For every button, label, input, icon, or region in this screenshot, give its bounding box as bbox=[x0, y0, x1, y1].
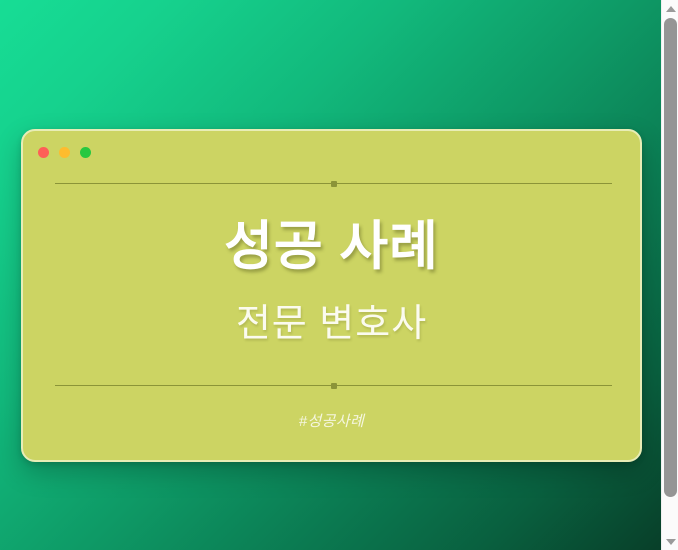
close-dot-icon[interactable] bbox=[38, 147, 49, 158]
scrollbar-thumb[interactable] bbox=[664, 18, 677, 497]
divider-top-node-icon bbox=[331, 181, 337, 187]
browser-viewport: 성공 사례 전문 변호사 #성공사례 bbox=[0, 0, 678, 550]
divider-bottom-node-icon bbox=[331, 383, 337, 389]
page-background: 성공 사례 전문 변호사 #성공사례 bbox=[0, 0, 661, 550]
scroll-up-triangle-icon bbox=[666, 6, 676, 12]
page-title: 성공 사례 bbox=[23, 218, 640, 275]
scroll-down-triangle-icon bbox=[666, 539, 676, 545]
vertical-scrollbar[interactable] bbox=[661, 0, 678, 550]
scroll-up-arrow-icon[interactable] bbox=[662, 0, 678, 17]
divider-bottom bbox=[55, 380, 612, 391]
slide-card[interactable]: 성공 사례 전문 변호사 #성공사례 bbox=[21, 129, 642, 462]
scroll-down-arrow-icon[interactable] bbox=[662, 533, 678, 550]
page-subtitle: 전문 변호사 bbox=[23, 303, 640, 347]
hashtag-label: #성공사례 bbox=[23, 410, 640, 431]
divider-top bbox=[55, 178, 612, 189]
window-controls bbox=[38, 147, 91, 158]
maximize-dot-icon[interactable] bbox=[80, 147, 91, 158]
minimize-dot-icon[interactable] bbox=[59, 147, 70, 158]
